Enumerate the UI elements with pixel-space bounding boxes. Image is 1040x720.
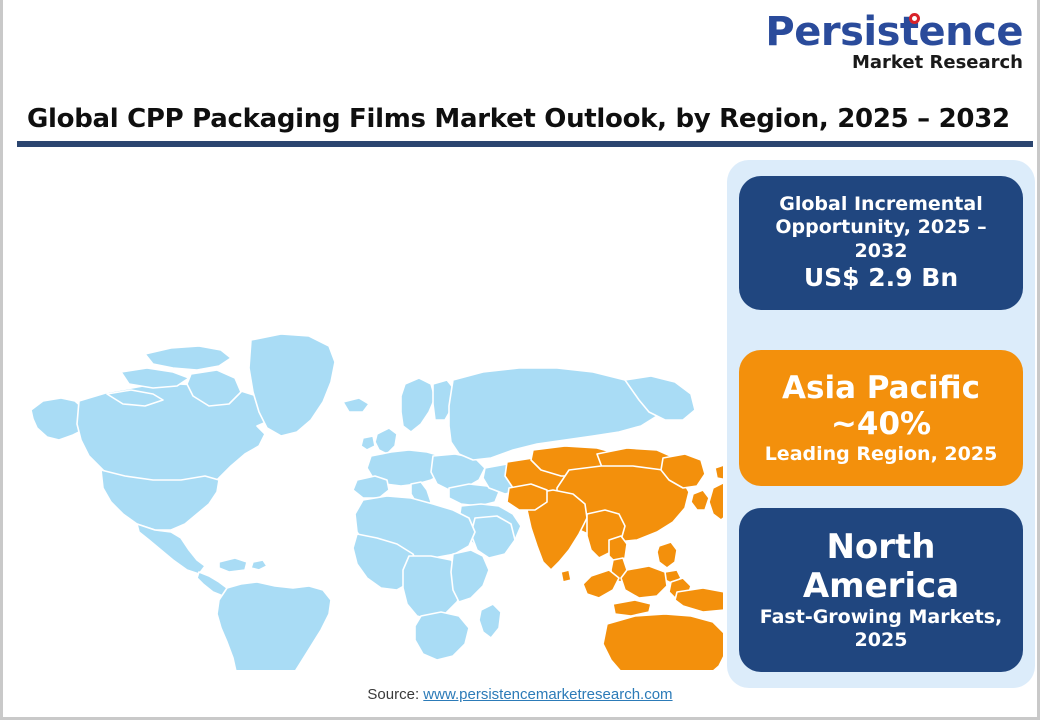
source-line: Source: www.persistencemarketresearch.co… (3, 686, 1037, 703)
map-region-sumatra (583, 570, 619, 598)
map-region-pakistan (507, 484, 547, 510)
map-region-arabia (471, 516, 515, 558)
logo-wordmark: Persistence (723, 12, 1023, 52)
source-label: Source: (367, 686, 423, 703)
world-map (13, 158, 723, 670)
logo-wordmark-text: Persistence (765, 9, 1023, 55)
world-map-svg (13, 158, 723, 670)
map-region-papua-new-guinea (675, 588, 723, 612)
source-url-link[interactable]: www.persistencemarketresearch.com (423, 686, 672, 703)
map-region-sri-lanka (561, 570, 571, 582)
card-region-name: Asia Pacific (782, 370, 980, 407)
map-region-arctic-islands-2 (121, 368, 189, 388)
infographic-slide: Persistence Market Research Global CPP P… (0, 0, 1040, 720)
map-region-iceland (343, 398, 369, 412)
title-underline-rule (17, 141, 1033, 147)
map-region-caribbean-2 (251, 560, 267, 570)
page-title: Global CPP Packaging Films Market Outloo… (17, 104, 1033, 134)
map-region-east-africa (451, 550, 489, 602)
map-region-central-america (197, 572, 227, 596)
map-region-borneo (621, 566, 667, 598)
stats-panel: Global Incremental Opportunity, 2025 – 2… (727, 160, 1035, 688)
map-region-korea (691, 490, 709, 510)
map-region-scandinavia (401, 378, 435, 432)
map-region-caribbean-1 (219, 558, 247, 572)
card-caption: Leading Region, 2025 (765, 443, 998, 466)
card-caption-line2: 2025 (855, 629, 908, 652)
map-region-arctic-islands-1 (145, 346, 231, 370)
card-fast-growing-market[interactable]: North America Fast-Growing Markets, 2025 (739, 508, 1023, 672)
card-value: US$ 2.9 Bn (804, 263, 958, 293)
map-region-southern-africa (415, 612, 469, 660)
card-leading-region[interactable]: Asia Pacific ~40% Leading Region, 2025 (739, 350, 1023, 486)
map-region-australia (603, 614, 723, 670)
company-logo: Persistence Market Research (723, 12, 1023, 74)
map-region-mexico (137, 524, 205, 574)
title-block: Global CPP Packaging Films Market Outloo… (17, 104, 1033, 147)
map-region-highlight-group (505, 446, 723, 670)
card-caption-line1: Fast-Growing Markets, (760, 606, 1003, 629)
map-region-iberia (353, 476, 389, 498)
map-region-philippines (657, 542, 677, 568)
map-region-ireland (361, 436, 375, 450)
logo-tagline: Market Research (723, 54, 1023, 72)
card-global-incremental-opportunity[interactable]: Global Incremental Opportunity, 2025 – 2… (739, 176, 1023, 310)
card-label-line2: Opportunity, 2025 – 2032 (751, 216, 1011, 262)
map-region-uk (375, 428, 397, 454)
map-region-madagascar (479, 604, 501, 638)
map-region-south-america (217, 582, 331, 670)
map-region-japan-main (709, 482, 723, 520)
red-circle-accent-icon (909, 13, 920, 24)
card-share-value: ~40% (831, 406, 931, 443)
map-region-japan-north (715, 464, 723, 480)
card-region-name: North America (751, 528, 1011, 606)
card-label-line1: Global Incremental (779, 193, 982, 216)
map-region-java (613, 600, 651, 616)
